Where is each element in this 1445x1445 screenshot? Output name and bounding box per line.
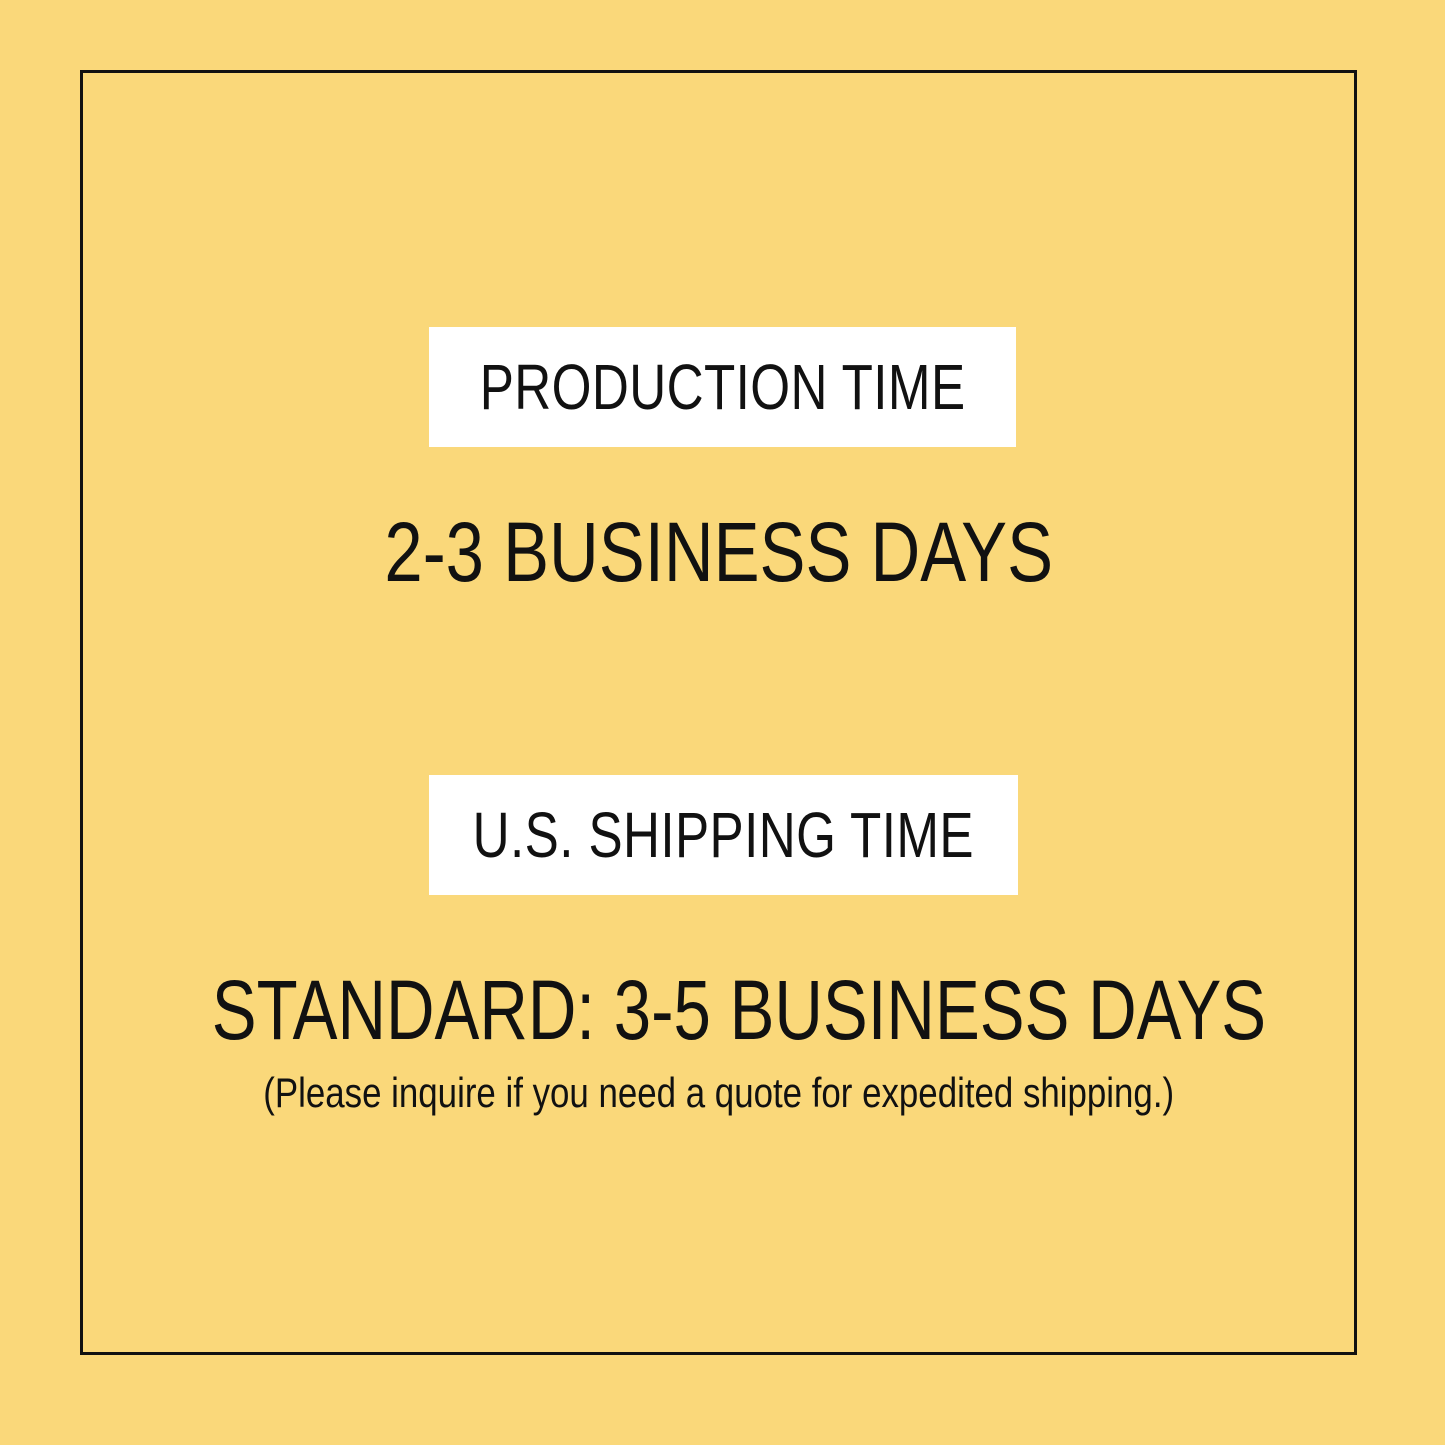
expedited-shipping-note-line: (Please inquire if you need a quote for … <box>80 1072 1357 1114</box>
shipping-time-value-line: STANDARD: 3-5 BUSINESS DAYS <box>80 968 1357 1052</box>
notice-content: PRODUCTION TIME 2-3 BUSINESS DAYS U.S. S… <box>80 70 1357 1355</box>
shipping-time-heading-label: U.S. SHIPPING TIME <box>473 803 974 867</box>
shipping-info-graphic: PRODUCTION TIME 2-3 BUSINESS DAYS U.S. S… <box>0 0 1445 1445</box>
production-time-heading-label: PRODUCTION TIME <box>480 355 966 419</box>
production-time-value-line: 2-3 BUSINESS DAYS <box>80 510 1357 594</box>
shipping-time-heading-chip: U.S. SHIPPING TIME <box>429 775 1018 895</box>
production-time-heading-chip: PRODUCTION TIME <box>429 327 1016 447</box>
expedited-shipping-note-label: (Please inquire if you need a quote for … <box>263 1072 1174 1114</box>
production-time-value-label: 2-3 BUSINESS DAYS <box>384 510 1053 594</box>
shipping-time-value-label: STANDARD: 3-5 BUSINESS DAYS <box>212 968 1266 1052</box>
